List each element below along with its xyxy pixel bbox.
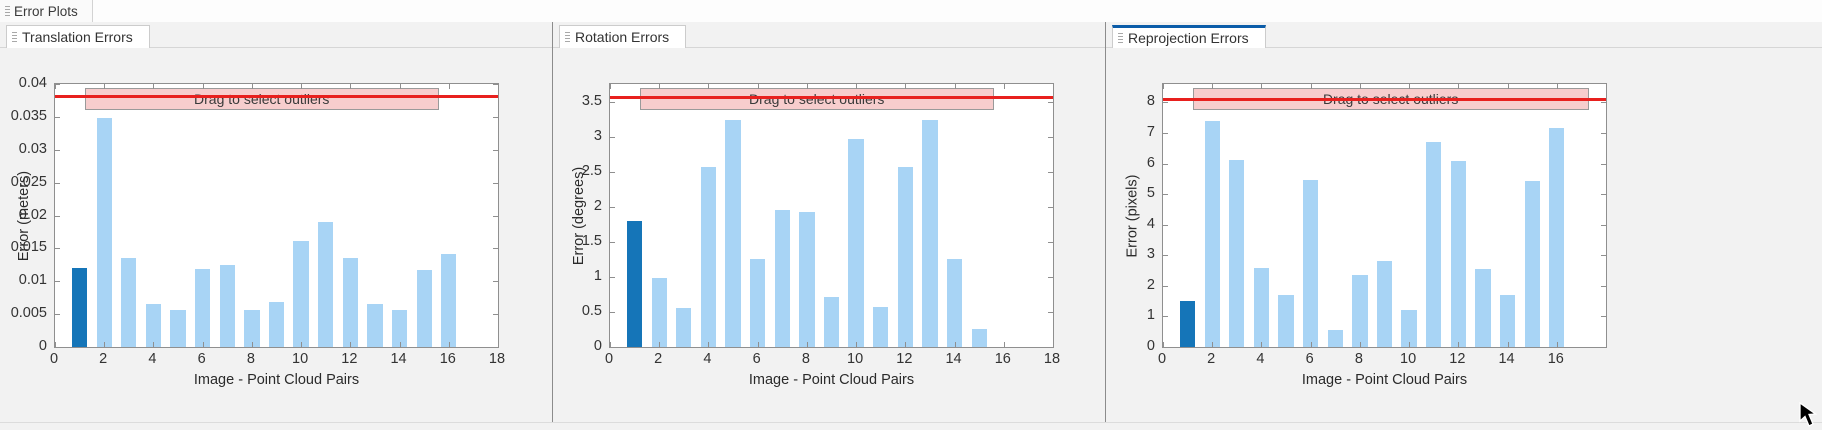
y-axis-tick-label: 7 bbox=[1106, 124, 1155, 140]
x-axis-tick-label: 18 bbox=[489, 351, 505, 367]
x-axis-tick bbox=[1311, 342, 1312, 347]
bar[interactable] bbox=[1328, 330, 1343, 347]
bar[interactable] bbox=[1352, 275, 1367, 347]
y-axis-tick-label: 0.5 bbox=[553, 303, 602, 319]
x-axis-tick-label: 10 bbox=[847, 351, 863, 367]
figure-panel-group: Translation ErrorsDrag to select outlier… bbox=[0, 22, 1822, 430]
bar[interactable] bbox=[1278, 295, 1293, 347]
x-axis-tick bbox=[955, 342, 956, 347]
bar[interactable] bbox=[97, 118, 112, 347]
bar[interactable] bbox=[947, 259, 962, 347]
x-axis-tick-top bbox=[1053, 84, 1054, 89]
panel-splitter[interactable] bbox=[552, 22, 553, 430]
x-axis-tick-label: 14 bbox=[945, 351, 961, 367]
x-axis-tick-label: 0 bbox=[1158, 351, 1166, 367]
bottom-strip bbox=[0, 422, 1822, 430]
document-tab-label: Error Plots bbox=[14, 4, 78, 19]
x-axis-tick-top bbox=[955, 84, 956, 89]
x-axis-tick bbox=[350, 342, 351, 347]
bar[interactable] bbox=[1254, 268, 1269, 347]
x-axis-tick-label: 16 bbox=[995, 351, 1011, 367]
y-axis-tick bbox=[1163, 164, 1168, 165]
x-axis-tick-label: 2 bbox=[1207, 351, 1215, 367]
x-axis-tick-top bbox=[400, 84, 401, 89]
x-axis-tick-label: 2 bbox=[99, 351, 107, 367]
bar[interactable] bbox=[293, 241, 308, 347]
y-axis-tick bbox=[610, 102, 615, 103]
x-axis-tick bbox=[1508, 342, 1509, 347]
y-axis-tick-label: 0 bbox=[0, 338, 47, 354]
bar[interactable] bbox=[627, 221, 642, 347]
y-axis-title: Error (pixels) bbox=[1124, 174, 1140, 257]
x-axis-tick-top bbox=[1311, 84, 1312, 89]
x-axis-tick-label: 12 bbox=[896, 351, 912, 367]
y-axis-tick-label: 0.01 bbox=[0, 272, 47, 288]
panel-tabbar-reprojection: Reprojection Errors bbox=[1106, 22, 1822, 48]
drag-grip-icon[interactable] bbox=[1117, 32, 1124, 45]
y-axis-tick-right bbox=[1048, 137, 1053, 138]
x-axis-tick-label: 8 bbox=[247, 351, 255, 367]
x-axis-tick bbox=[1360, 342, 1361, 347]
y-axis-tick bbox=[610, 137, 615, 138]
plot-area-rotation: Drag to select outliers bbox=[610, 84, 1053, 347]
y-axis-tick-right bbox=[1048, 102, 1053, 103]
y-axis-tick bbox=[55, 117, 60, 118]
outlier-band-label: Drag to select outliers bbox=[86, 91, 438, 107]
drag-grip-icon[interactable] bbox=[4, 5, 11, 18]
tab-label: Reprojection Errors bbox=[1128, 30, 1249, 46]
bar[interactable] bbox=[1525, 181, 1540, 347]
x-axis-tick bbox=[153, 342, 154, 347]
outlier-threshold-line[interactable] bbox=[610, 96, 1053, 99]
y-axis-tick bbox=[610, 277, 615, 278]
plot-area-reprojection: Drag to select outliers bbox=[1163, 84, 1606, 347]
bar[interactable] bbox=[195, 269, 210, 347]
y-axis-tick bbox=[55, 216, 60, 217]
x-axis-tick bbox=[905, 342, 906, 347]
y-axis-tick bbox=[1163, 225, 1168, 226]
y-axis-tick bbox=[55, 150, 60, 151]
x-axis-tick-label: 10 bbox=[292, 351, 308, 367]
y-axis-tick bbox=[1163, 316, 1168, 317]
bar[interactable] bbox=[269, 302, 284, 347]
bar[interactable] bbox=[72, 268, 87, 347]
x-axis-tick bbox=[1212, 342, 1213, 347]
bar[interactable] bbox=[1229, 160, 1244, 347]
bar[interactable] bbox=[750, 259, 765, 347]
y-axis-tick bbox=[610, 242, 615, 243]
y-axis-title: Error (degrees) bbox=[571, 166, 587, 264]
outlier-selection-band[interactable]: Drag to select outliers bbox=[85, 88, 439, 110]
drag-grip-icon[interactable] bbox=[564, 31, 571, 44]
y-axis-tick-right bbox=[1601, 316, 1606, 317]
y-axis-tick bbox=[55, 314, 60, 315]
x-axis-tick bbox=[856, 342, 857, 347]
bar[interactable] bbox=[1475, 269, 1490, 347]
x-axis-tick-label: 18 bbox=[1044, 351, 1060, 367]
y-axis-tick-right bbox=[493, 84, 498, 85]
x-axis-tick-top bbox=[708, 84, 709, 89]
bar[interactable] bbox=[873, 307, 888, 347]
x-axis-tick-top bbox=[1458, 84, 1459, 89]
bar[interactable] bbox=[652, 278, 667, 347]
x-axis-tick bbox=[1458, 342, 1459, 347]
y-axis-tick bbox=[1163, 194, 1168, 195]
bar[interactable] bbox=[701, 167, 716, 347]
y-axis-tick-label: 0 bbox=[553, 338, 602, 354]
y-axis-tick-right bbox=[1048, 312, 1053, 313]
tab-rotation-errors[interactable]: Rotation Errors bbox=[559, 25, 686, 48]
figure-panel-translation: Translation ErrorsDrag to select outlier… bbox=[0, 22, 552, 430]
axes-box: Drag to select outliers bbox=[609, 83, 1054, 348]
y-axis-tick-label: 0.005 bbox=[0, 305, 47, 321]
panel-tabbar-translation: Translation Errors bbox=[0, 22, 552, 48]
bar[interactable] bbox=[725, 120, 740, 347]
axes-rotation: Drag to select outliers bbox=[609, 83, 1054, 348]
bar[interactable] bbox=[799, 212, 814, 347]
x-axis-tick-top bbox=[350, 84, 351, 89]
axes-box: Drag to select outliers bbox=[1162, 83, 1607, 348]
x-axis-tick-top bbox=[1261, 84, 1262, 89]
y-axis-tick-right bbox=[1048, 207, 1053, 208]
panel-tabbar-rotation: Rotation Errors bbox=[553, 22, 1105, 48]
bar[interactable] bbox=[343, 258, 358, 347]
x-axis-tick-label: 0 bbox=[605, 351, 613, 367]
bar[interactable] bbox=[824, 297, 839, 347]
document-tab-error-plots[interactable]: Error Plots bbox=[0, 0, 93, 22]
outlier-threshold-line[interactable] bbox=[55, 95, 498, 98]
x-axis-tick-top bbox=[301, 84, 302, 89]
x-axis-tick-label: 8 bbox=[802, 351, 810, 367]
bar[interactable] bbox=[898, 167, 913, 347]
x-axis-tick-top bbox=[1557, 84, 1558, 89]
y-axis-tick-right bbox=[1601, 164, 1606, 165]
bar[interactable] bbox=[1549, 128, 1564, 347]
x-axis-tick-top bbox=[104, 84, 105, 89]
x-axis-tick bbox=[807, 342, 808, 347]
axes-translation: Drag to select outliers bbox=[54, 83, 499, 348]
x-axis-tick-top bbox=[905, 84, 906, 89]
bar[interactable] bbox=[1180, 301, 1195, 347]
y-axis-tick bbox=[55, 248, 60, 249]
y-axis-tick-right bbox=[1048, 277, 1053, 278]
tab-label: Rotation Errors bbox=[575, 29, 669, 45]
y-axis-tick-right bbox=[493, 314, 498, 315]
outlier-threshold-line[interactable] bbox=[1163, 98, 1606, 101]
y-axis-tick-label: 8 bbox=[1106, 93, 1155, 109]
bar[interactable] bbox=[1303, 180, 1318, 347]
bar[interactable] bbox=[170, 310, 185, 347]
x-axis-tick-top bbox=[1360, 84, 1361, 89]
figure-panel-rotation: Rotation ErrorsDrag to select outliers02… bbox=[553, 22, 1105, 430]
tab-reprojection-errors[interactable]: Reprojection Errors bbox=[1112, 25, 1266, 48]
x-axis-tick-top bbox=[498, 84, 499, 89]
y-axis-tick-right bbox=[493, 117, 498, 118]
y-axis-tick bbox=[55, 84, 60, 85]
panel-splitter[interactable] bbox=[1105, 22, 1106, 430]
x-axis-tick-top bbox=[449, 84, 450, 89]
y-axis-tick bbox=[610, 312, 615, 313]
x-axis-tick-label: 0 bbox=[50, 351, 58, 367]
bar[interactable] bbox=[318, 222, 333, 347]
y-axis-tick bbox=[1163, 255, 1168, 256]
y-axis-tick bbox=[55, 347, 60, 348]
y-axis-tick-label: 6 bbox=[1106, 155, 1155, 171]
y-axis-title: Error (meters) bbox=[16, 170, 32, 260]
y-axis-tick-right bbox=[1601, 347, 1606, 348]
y-axis-tick-right bbox=[1048, 172, 1053, 173]
y-axis-tick-right bbox=[1048, 347, 1053, 348]
bar[interactable] bbox=[1205, 121, 1220, 347]
y-axis-tick bbox=[1163, 133, 1168, 134]
y-axis-tick-label: 3 bbox=[553, 128, 602, 144]
y-axis-tick-label: 3.5 bbox=[553, 93, 602, 109]
x-axis-tick-label: 6 bbox=[1306, 351, 1314, 367]
x-axis-tick bbox=[400, 342, 401, 347]
x-axis-tick-top bbox=[758, 84, 759, 89]
y-axis-tick bbox=[610, 207, 615, 208]
y-axis-tick-label: 1 bbox=[553, 268, 602, 284]
bar[interactable] bbox=[1426, 142, 1441, 348]
x-axis-tick-top bbox=[1163, 84, 1164, 89]
x-axis-tick bbox=[301, 342, 302, 347]
bar[interactable] bbox=[1377, 261, 1392, 347]
x-axis-tick-top bbox=[610, 84, 611, 89]
x-axis-tick bbox=[203, 342, 204, 347]
x-axis-tick-top bbox=[1508, 84, 1509, 89]
x-axis-tick-top bbox=[1004, 84, 1005, 89]
y-axis-tick bbox=[1163, 102, 1168, 103]
figure-panel-reprojection: Reprojection ErrorsDrag to select outlie… bbox=[1106, 22, 1822, 430]
x-axis-tick-label: 4 bbox=[148, 351, 156, 367]
bar[interactable] bbox=[848, 139, 863, 347]
bar[interactable] bbox=[1500, 295, 1515, 347]
x-axis-title: Image - Point Cloud Pairs bbox=[1162, 372, 1607, 388]
y-axis-tick-right bbox=[493, 281, 498, 282]
bar[interactable] bbox=[367, 304, 382, 347]
x-axis-title: Image - Point Cloud Pairs bbox=[54, 372, 499, 388]
bar[interactable] bbox=[676, 308, 691, 347]
document-tabbar-filler bbox=[88, 0, 1822, 22]
axes-box: Drag to select outliers bbox=[54, 83, 499, 348]
x-axis-tick bbox=[449, 342, 450, 347]
x-axis-tick-label: 10 bbox=[1400, 351, 1416, 367]
x-axis-tick-top bbox=[1212, 84, 1213, 89]
y-axis-tick bbox=[1163, 347, 1168, 348]
x-axis-tick-top bbox=[153, 84, 154, 89]
drag-grip-icon[interactable] bbox=[11, 31, 18, 44]
y-axis-tick-right bbox=[1601, 194, 1606, 195]
x-axis-title: Image - Point Cloud Pairs bbox=[609, 372, 1054, 388]
axes-reprojection: Drag to select outliers bbox=[1162, 83, 1607, 348]
x-axis-tick-label: 14 bbox=[1498, 351, 1514, 367]
x-axis-tick bbox=[1004, 342, 1005, 347]
bar[interactable] bbox=[972, 329, 987, 347]
bar[interactable] bbox=[922, 120, 937, 347]
y-axis-tick bbox=[1163, 286, 1168, 287]
y-axis-tick-label: 1 bbox=[1106, 307, 1155, 323]
y-axis-tick-label: 0.035 bbox=[0, 108, 47, 124]
y-axis-tick-right bbox=[1601, 255, 1606, 256]
y-axis-tick-right bbox=[1601, 133, 1606, 134]
y-axis-tick-right bbox=[493, 216, 498, 217]
x-axis-tick-label: 8 bbox=[1355, 351, 1363, 367]
bar[interactable] bbox=[441, 254, 456, 347]
bar[interactable] bbox=[1451, 161, 1466, 347]
document-tabbar: Error Plots bbox=[0, 0, 1822, 22]
x-axis-tick-label: 4 bbox=[1256, 351, 1264, 367]
y-axis-tick-right bbox=[493, 248, 498, 249]
y-axis-tick bbox=[610, 347, 615, 348]
x-axis-tick-label: 12 bbox=[341, 351, 357, 367]
y-axis-tick bbox=[610, 172, 615, 173]
x-axis-tick-top bbox=[659, 84, 660, 89]
x-axis-tick bbox=[758, 342, 759, 347]
x-axis-tick-label: 14 bbox=[390, 351, 406, 367]
y-axis-tick-label: 0 bbox=[1106, 338, 1155, 354]
y-axis-tick bbox=[55, 183, 60, 184]
x-axis-tick-top bbox=[807, 84, 808, 89]
x-axis-tick-top bbox=[203, 84, 204, 89]
bar[interactable] bbox=[417, 270, 432, 347]
bar[interactable] bbox=[146, 304, 161, 347]
y-axis-tick-label: 2 bbox=[1106, 277, 1155, 293]
x-axis-tick-top bbox=[856, 84, 857, 89]
bar[interactable] bbox=[121, 258, 136, 347]
x-axis-tick bbox=[498, 342, 499, 347]
y-axis-tick-right bbox=[493, 347, 498, 348]
plot-area-translation: Drag to select outliers bbox=[55, 84, 498, 347]
bar[interactable] bbox=[775, 210, 790, 347]
x-axis-tick bbox=[1053, 342, 1054, 347]
x-axis-tick-top bbox=[1409, 84, 1410, 89]
x-axis-tick-label: 12 bbox=[1449, 351, 1465, 367]
x-axis-tick-label: 4 bbox=[703, 351, 711, 367]
x-axis-tick bbox=[659, 342, 660, 347]
y-axis-tick bbox=[55, 281, 60, 282]
x-axis-tick-label: 16 bbox=[440, 351, 456, 367]
x-axis-tick bbox=[708, 342, 709, 347]
x-axis-tick-label: 2 bbox=[654, 351, 662, 367]
x-axis-tick-label: 6 bbox=[198, 351, 206, 367]
y-axis-tick-right bbox=[1601, 286, 1606, 287]
x-axis-tick-top bbox=[252, 84, 253, 89]
x-axis-tick-label: 16 bbox=[1548, 351, 1564, 367]
y-axis-tick-right bbox=[1048, 242, 1053, 243]
y-axis-tick-right bbox=[493, 150, 498, 151]
x-axis-tick bbox=[1409, 342, 1410, 347]
y-axis-tick-right bbox=[1601, 102, 1606, 103]
x-axis-tick bbox=[252, 342, 253, 347]
x-axis-tick bbox=[1261, 342, 1262, 347]
y-axis-tick-right bbox=[1601, 225, 1606, 226]
y-axis-tick-label: 0.03 bbox=[0, 141, 47, 157]
x-axis-tick bbox=[1557, 342, 1558, 347]
bar[interactable] bbox=[220, 265, 235, 347]
x-axis-tick bbox=[104, 342, 105, 347]
y-axis-tick-label: 0.04 bbox=[0, 75, 47, 91]
tab-label: Translation Errors bbox=[22, 29, 133, 45]
y-axis-tick-right bbox=[493, 183, 498, 184]
x-axis-tick-label: 6 bbox=[753, 351, 761, 367]
tab-translation-errors[interactable]: Translation Errors bbox=[6, 25, 150, 48]
